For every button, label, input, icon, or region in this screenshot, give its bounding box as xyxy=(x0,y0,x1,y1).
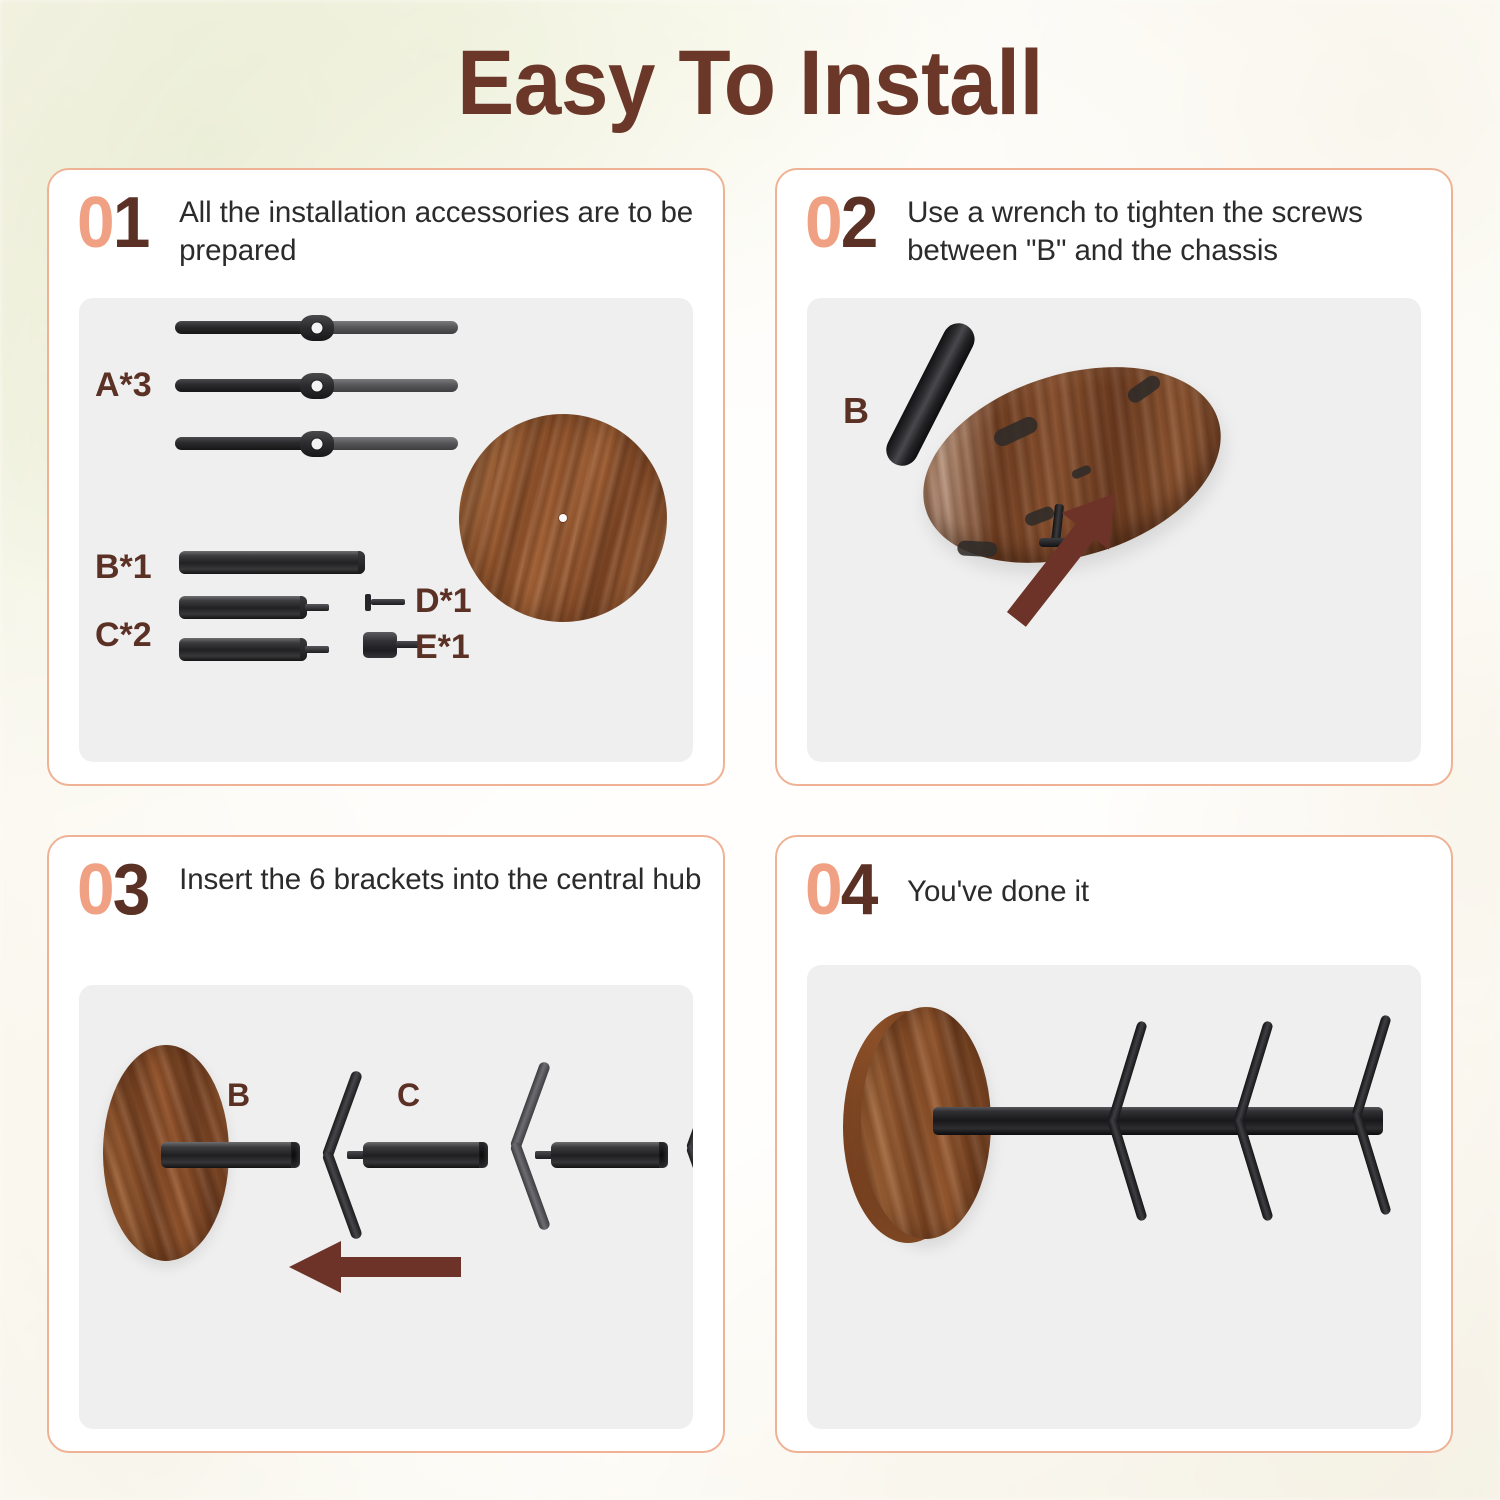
step-number-digit: 2 xyxy=(841,183,877,263)
part-a-bar-2 xyxy=(175,378,458,393)
hook-lower-arm xyxy=(1233,1118,1274,1222)
hook-lower-arm xyxy=(1107,1118,1148,1222)
step-number-02: 02 xyxy=(805,188,877,259)
step-number-01: 01 xyxy=(77,188,149,259)
part-label-e: E*1 xyxy=(415,628,470,667)
disc-slot-2 xyxy=(1125,373,1163,406)
hook-upper-arm xyxy=(1351,1014,1392,1118)
step-number-zero: 0 xyxy=(805,850,841,930)
step-number-zero: 0 xyxy=(77,850,113,930)
main-rod-assembled xyxy=(933,1107,1383,1135)
illustration-panel-02: B xyxy=(807,298,1421,762)
rod-c1-socket xyxy=(479,1142,488,1168)
finished-product-diagram xyxy=(807,965,1421,1429)
infographic-page: Easy To Install 01 All the installation … xyxy=(0,0,1500,1500)
disc-slot-4 xyxy=(957,540,998,557)
step-number-digit: 4 xyxy=(841,850,877,930)
direction-arrow-icon xyxy=(289,1241,461,1293)
bracket-lower-arm xyxy=(685,1143,693,1233)
part-d-shaft xyxy=(371,599,405,605)
step-number-zero: 0 xyxy=(77,183,113,263)
step-text-04: You've done it xyxy=(907,873,1089,911)
part-b-rod xyxy=(179,551,365,574)
callout-label-c: C xyxy=(397,1077,420,1114)
step-number-03: 03 xyxy=(77,855,149,926)
callout-label-b: B xyxy=(843,390,869,432)
callout-label-b: B xyxy=(227,1077,250,1114)
part-label-a: A*3 xyxy=(95,366,152,405)
part-label-b: B*1 xyxy=(95,548,152,587)
illustration-panel-03: B C xyxy=(79,985,693,1429)
hook-upper-arm xyxy=(1233,1020,1274,1124)
step-header-04: 04 You've done it xyxy=(805,855,1435,926)
wood-disc-top-view xyxy=(459,414,667,622)
part-label-d: D*1 xyxy=(415,582,472,621)
step-card-02: 02 Use a wrench to tighten the screws be… xyxy=(775,168,1453,786)
step-number-digit: 1 xyxy=(113,183,149,263)
part-a-hub xyxy=(300,431,334,457)
step-header-03: 03 Insert the 6 brackets into the centra… xyxy=(77,855,707,926)
rod-c-segment-1 xyxy=(363,1142,485,1168)
part-a-hole xyxy=(311,323,322,334)
bracket-upper-arm xyxy=(685,1063,693,1153)
bracket-upper-arm xyxy=(321,1070,363,1160)
wrench-tighten-diagram: B xyxy=(807,298,1421,762)
rod-b-segment xyxy=(161,1142,297,1168)
step-number-04: 04 xyxy=(805,855,877,926)
part-a-hub xyxy=(300,315,334,341)
step-text-01: All the installation accessories are to … xyxy=(179,194,707,270)
page-title: Easy To Install xyxy=(53,34,1448,133)
step-header-01: 01 All the installation accessories are … xyxy=(77,188,707,270)
part-label-c: C*2 xyxy=(95,616,152,655)
wood-disc-center-hole xyxy=(559,514,567,522)
part-c-rod-2 xyxy=(179,638,307,661)
bracket-2 xyxy=(489,1057,543,1235)
bracket-lower-arm xyxy=(321,1150,363,1240)
illustration-panel-04 xyxy=(807,965,1421,1429)
hook-2 xyxy=(1209,1017,1271,1225)
step-text-03: Insert the 6 brackets into the central h… xyxy=(179,861,701,899)
part-c-rod-2-tip xyxy=(305,646,329,653)
rod-b-socket xyxy=(291,1142,300,1168)
disc-slot-1 xyxy=(991,414,1040,449)
part-a-bar-3 xyxy=(175,436,458,451)
bracket-3 xyxy=(665,1059,693,1237)
part-c-rod-1-tip xyxy=(305,604,329,611)
rod-c-segment-2 xyxy=(551,1142,665,1168)
part-a-hub xyxy=(300,373,334,399)
part-a-hole xyxy=(311,381,322,392)
hook-1 xyxy=(1083,1017,1145,1225)
step-number-digit: 3 xyxy=(113,850,149,930)
parts-diagram: A*3 B*1 C*2 xyxy=(79,298,693,762)
hook-lower-arm xyxy=(1351,1112,1392,1216)
part-c-rod-1 xyxy=(179,596,307,619)
step-text-02: Use a wrench to tighten the screws betwe… xyxy=(907,194,1435,270)
bracket-upper-arm xyxy=(509,1061,551,1151)
step-card-03: 03 Insert the 6 brackets into the centra… xyxy=(47,835,725,1453)
hook-3 xyxy=(1327,1011,1389,1219)
hook-upper-arm xyxy=(1107,1020,1148,1124)
step-header-02: 02 Use a wrench to tighten the screws be… xyxy=(805,188,1435,270)
exploded-assembly-diagram: B C xyxy=(79,985,693,1429)
step-card-01: 01 All the installation accessories are … xyxy=(47,168,725,786)
step-number-zero: 0 xyxy=(805,183,841,263)
part-a-hole xyxy=(311,439,322,450)
part-a-bar-1 xyxy=(175,320,458,335)
part-e-body xyxy=(363,632,397,658)
illustration-panel-01: A*3 B*1 C*2 xyxy=(79,298,693,762)
step-card-04: 04 You've done it xyxy=(775,835,1453,1453)
